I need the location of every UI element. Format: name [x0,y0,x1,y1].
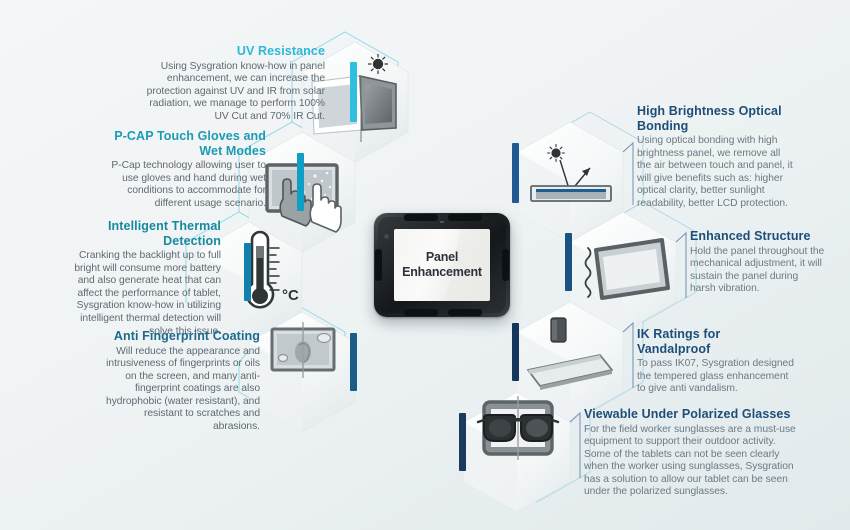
text-block-polarized-glasses: Viewable Under Polarized Glasses For the… [584,407,799,499]
infographic-canvas: °C [0,0,850,530]
heading-enhanced-structure: Enhanced Structure [690,229,825,244]
heading-polarized-glasses: Viewable Under Polarized Glasses [584,407,799,422]
hex-optical-bonding[interactable] [517,122,623,242]
sun-over-panel-icon [369,55,388,74]
tablet-bumper [448,214,482,221]
text-block-enhanced-structure: Enhanced Structure Hold the panel throug… [690,229,825,296]
hex-anti-fingerprint[interactable] [249,312,355,432]
svg-text:°C: °C [282,287,299,304]
text-block-pcap-touch: P-CAP Touch Gloves and Wet Modes P-Cap t… [108,129,266,210]
center-label-line2: Enhancement [402,265,482,280]
svg-text:A: A [527,419,542,442]
vibrating-frame-icon [586,240,669,298]
tablet-camera-icon [385,235,388,238]
heading-anti-fingerprint: Anti Fingerprint Coating [100,329,260,344]
text-block-thermal-detection: Intelligent Thermal Detection Cranking t… [56,219,221,338]
impact-hammer-glass-icon [528,318,612,390]
body-polarized-glasses: For the field worker sunglasses are a mu… [584,424,799,500]
body-enhanced-structure: Hold the panel throughout the mechanical… [690,246,825,296]
body-thermal-detection: Cranking the backlight up to full bright… [56,250,221,338]
sun-reflection-layers-icon [531,145,611,201]
heading-optical-bonding: High Brightness Optical Bonding [637,104,797,133]
connector-bar-bonding [512,143,519,203]
tablet-bumper [448,309,482,316]
center-label-line1: Panel [402,250,482,265]
hex-enhanced-structure[interactable] [570,212,676,332]
connector-bar-thermal [244,243,251,301]
connector-bar-uv [350,62,357,122]
tablet-bumper [404,214,438,221]
body-ik-ratings: To pass IK07, Sysgration designed the te… [637,358,797,396]
body-pcap-touch: P-Cap technology allowing user to use gl… [108,160,266,210]
body-anti-fingerprint: Will reduce the appearance and intrusive… [100,346,260,434]
connector-bar-glasses [459,413,466,471]
center-tablet: Panel Enhancement [374,213,510,317]
fingerprint-on-screen-icon [272,322,334,378]
text-block-ik-ratings: IK Ratings for Vandalproof To pass IK07,… [637,327,797,396]
heading-uv-resistance: UV Resistance [140,44,325,59]
body-optical-bonding: Using optical bonding with high brightne… [637,135,797,211]
sunglasses-over-screen-icon: A A [478,396,558,460]
tablet-speaker [440,221,444,223]
tablet-bumper [502,249,509,281]
connector-bar-fingerprint [350,333,357,391]
hex-polarized-glasses[interactable]: A A [464,392,570,512]
body-uv-resistance: Using Sysgration know-how in panel enhan… [140,61,325,124]
connector-bar-pcap [297,153,304,211]
glove-hand-touch-icon [267,165,341,232]
text-block-optical-bonding: High Brightness Optical Bonding Using op… [637,104,797,211]
tablet-screen: Panel Enhancement [394,229,490,301]
text-block-uv-resistance: UV Resistance Using Sysgration know-how … [140,44,325,123]
heading-pcap-touch: P-CAP Touch Gloves and Wet Modes [108,129,266,158]
connector-bar-structure [565,233,572,291]
text-block-anti-fingerprint: Anti Fingerprint Coating Will reduce the… [100,329,260,434]
connector-bar-ik [512,323,519,381]
heading-thermal-detection: Intelligent Thermal Detection [56,219,221,248]
hex-ik-ratings[interactable] [517,302,623,422]
heading-ik-ratings: IK Ratings for Vandalproof [637,327,797,356]
svg-text:A: A [493,419,508,442]
thermometer-celsius-icon: °C [247,232,299,307]
center-label: Panel Enhancement [402,250,482,280]
tablet-bumper [404,309,438,316]
tablet-bumper [375,249,382,281]
